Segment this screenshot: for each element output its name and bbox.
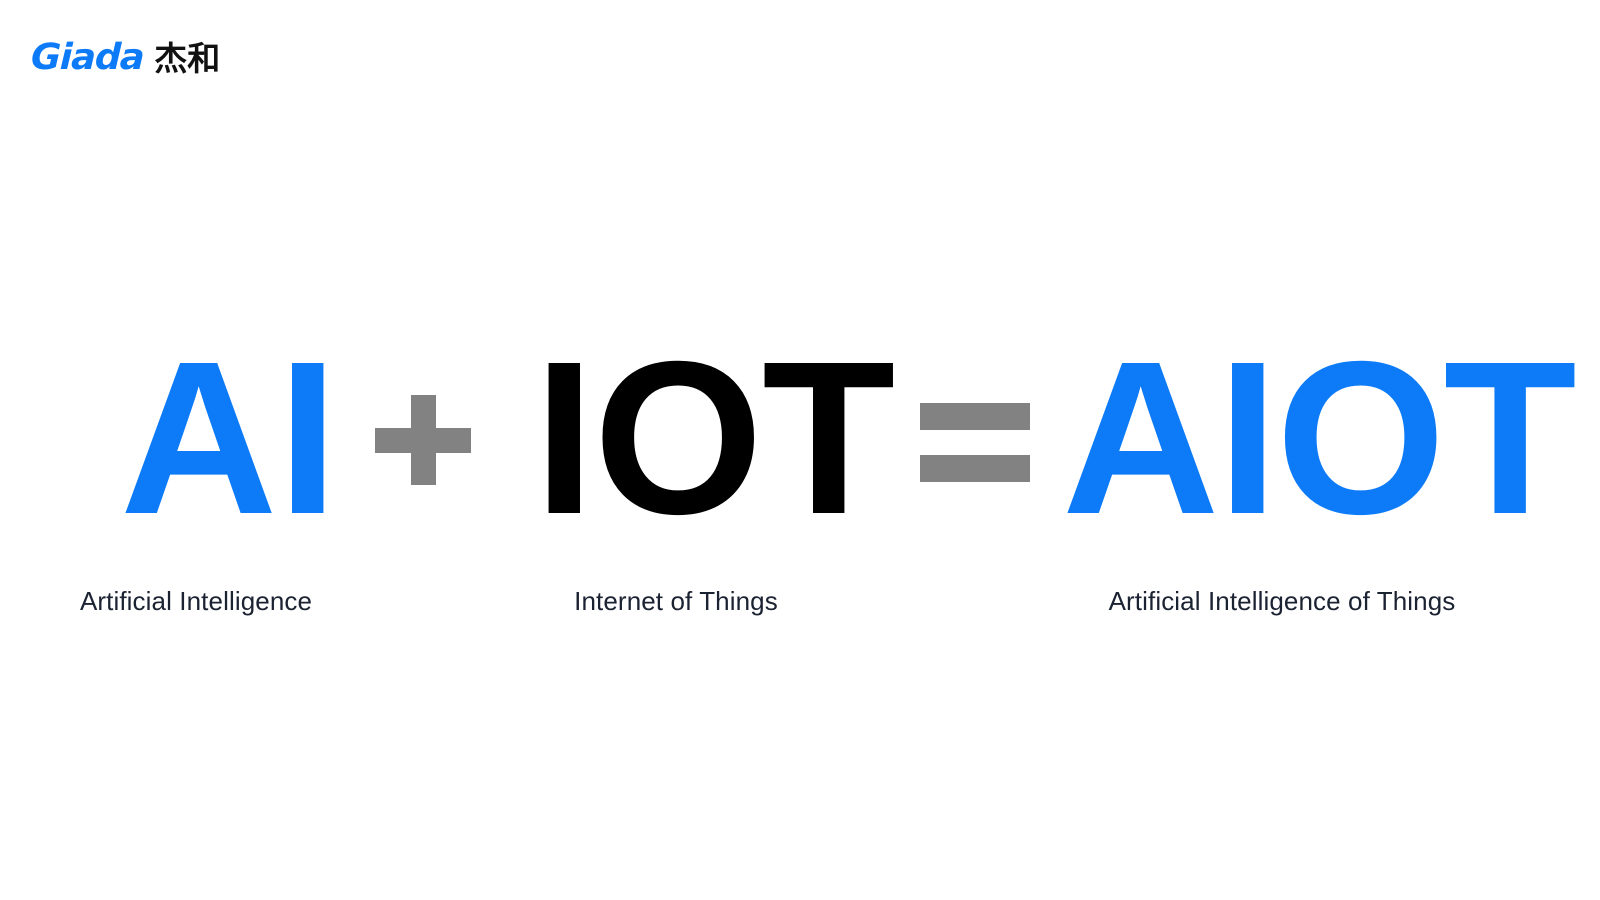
equation-term-ai: AI	[120, 330, 338, 548]
slide-canvas: { "colors": { "background": "#ffffff", "…	[0, 0, 1600, 900]
aiot-equation: AI IOT AIOT	[0, 0, 1600, 900]
equation-term-aiot: AIOT	[1062, 330, 1575, 548]
equals-top-bar	[920, 403, 1030, 430]
plus-operator-icon	[375, 395, 471, 485]
equation-term-iot: IOT	[534, 330, 894, 548]
caption-artificial-intelligence: Artificial Intelligence	[80, 588, 312, 614]
caption-internet-of-things: Internet of Things	[574, 588, 778, 614]
equals-bottom-bar	[920, 455, 1030, 482]
caption-artificial-intelligence-of-things: Artificial Intelligence of Things	[1109, 588, 1456, 614]
plus-vertical-bar	[411, 395, 436, 485]
equals-operator-icon	[920, 395, 1030, 485]
